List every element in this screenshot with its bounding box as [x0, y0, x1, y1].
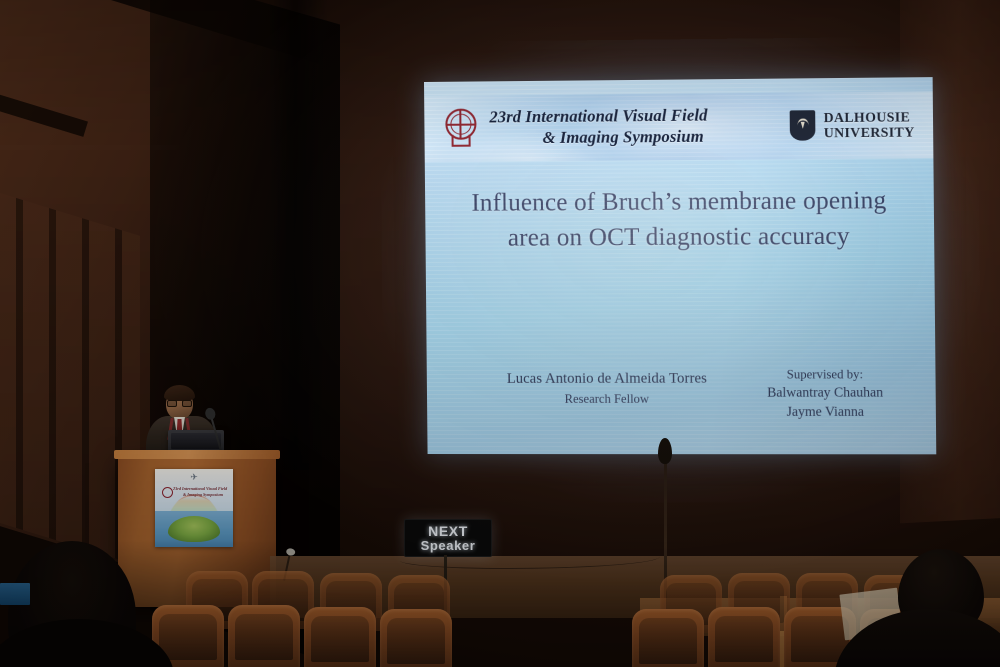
- presentation-slide: 23rd International Visual Field & Imagin…: [424, 77, 936, 454]
- seat: [708, 607, 780, 667]
- auditorium-seating: [0, 547, 1000, 667]
- dalhousie-wordmark: DALHOUSIE UNIVERSITY: [824, 109, 915, 141]
- slide-title: Influence of Bruch’s membrane opening ar…: [455, 183, 904, 256]
- projection-screen: 23rd International Visual Field & Imagin…: [424, 77, 936, 454]
- presenter-block: Lucas Antonio de Almeida Torres Research…: [461, 369, 754, 407]
- supervisor-name-1: Balwantray Chauhan: [733, 384, 917, 403]
- next-speaker-top-label: NEXT: [428, 524, 468, 538]
- symposium-title-line-1: 23rd International Visual Field: [489, 106, 707, 129]
- floor-cable: [400, 548, 660, 569]
- dalhousie-line-2: UNIVERSITY: [824, 125, 915, 141]
- seat: [304, 607, 376, 667]
- supervisors-block: Supervised by: Balwantray Chauhan Jayme …: [733, 366, 917, 421]
- dalhousie-shield-icon: [790, 111, 816, 142]
- microphone-stand-head: [658, 438, 672, 464]
- supervisor-name-2: Jayme Vianna: [733, 402, 917, 421]
- eyeglasses-icon: [167, 400, 192, 407]
- dalhousie-university-logo: DALHOUSIE UNIVERSITY: [790, 109, 915, 141]
- symposium-title-line-2: & Imaging Symposium: [490, 127, 708, 150]
- wall-vertical-shadow: [268, 0, 328, 470]
- seat: [632, 609, 704, 667]
- slide-header-band: 23rd International Visual Field & Imagin…: [424, 91, 933, 162]
- symposium-title: 23rd International Visual Field & Imagin…: [489, 106, 708, 150]
- symposium-target-globe-emblem-icon: [442, 109, 480, 149]
- speaker-hair: [164, 385, 195, 401]
- seat: [228, 605, 300, 667]
- conference-photo-scene: 23rd International Visual Field & Imagin…: [0, 0, 1000, 667]
- presenter-name: Lucas Antonio de Almeida Torres: [461, 369, 754, 388]
- dalhousie-line-1: DALHOUSIE: [824, 109, 915, 125]
- supervised-by-label: Supervised by:: [733, 366, 917, 384]
- seat: [380, 609, 452, 667]
- laptop-screen: [171, 433, 221, 449]
- device-screen-glow: [0, 583, 30, 605]
- heraldic-bird-icon: [795, 116, 810, 129]
- presenter-role: Research Fellow: [461, 391, 754, 408]
